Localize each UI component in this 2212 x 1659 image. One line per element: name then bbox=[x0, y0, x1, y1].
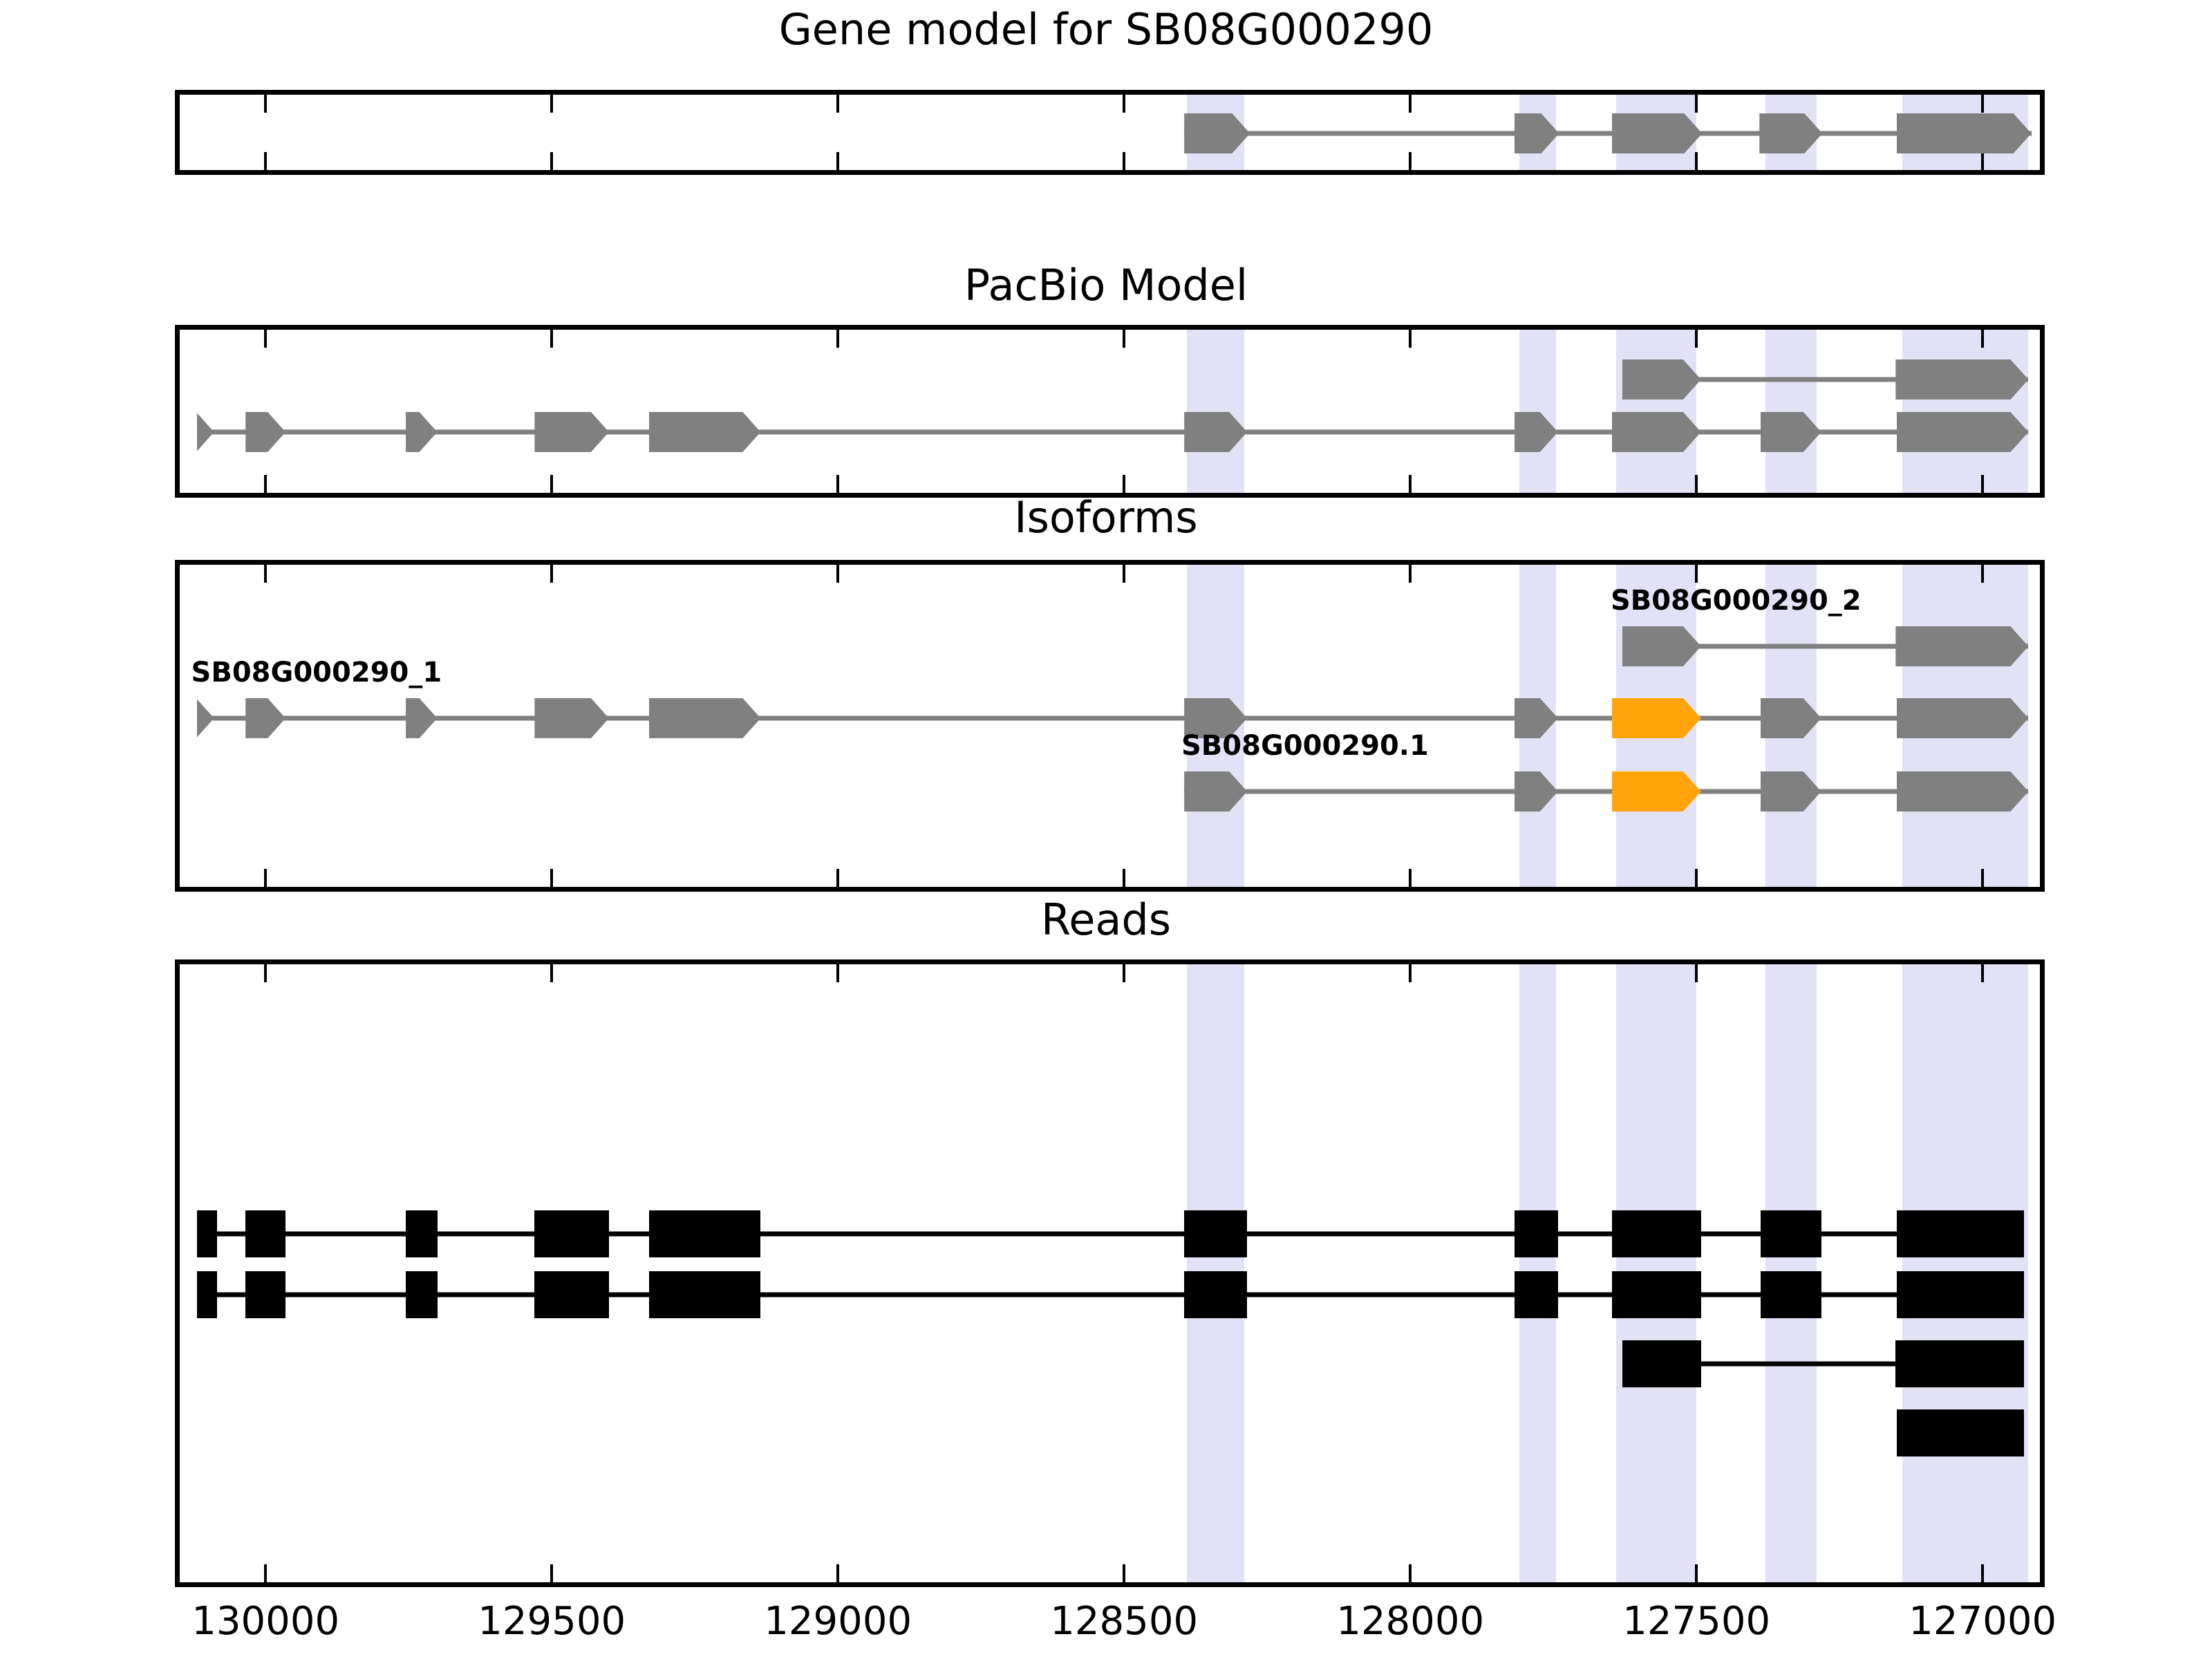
figure-title: Gene model for SB08G000290 bbox=[0, 8, 2212, 51]
axis-tick bbox=[550, 330, 553, 348]
isoform-label: SB08G000290_1 bbox=[191, 659, 442, 686]
exon-block bbox=[534, 412, 609, 452]
exon-block bbox=[245, 1210, 285, 1257]
axis-tick bbox=[264, 869, 267, 887]
exon-block bbox=[406, 1271, 438, 1318]
axis-tick bbox=[550, 95, 553, 113]
exon-block bbox=[534, 1271, 609, 1318]
exon-block bbox=[1895, 359, 2028, 400]
axis-tick bbox=[1981, 565, 1984, 583]
axis-tick bbox=[264, 475, 267, 493]
exon-block bbox=[1761, 1271, 1821, 1318]
exon-block bbox=[1515, 1271, 1558, 1318]
highlight-band bbox=[1616, 330, 1696, 493]
axis-tick bbox=[1409, 565, 1412, 583]
exon-block bbox=[1897, 1409, 2024, 1456]
highlight-band bbox=[1519, 330, 1557, 493]
exon-block bbox=[197, 412, 214, 452]
panel-reads bbox=[175, 959, 2045, 1587]
axis-tick bbox=[1123, 475, 1125, 493]
panel-title-isoforms: Isoforms bbox=[0, 496, 2212, 539]
exon-block bbox=[1897, 698, 2028, 738]
x-axis-tick-label: 129500 bbox=[478, 1602, 626, 1641]
axis-tick bbox=[1123, 869, 1125, 887]
exon-block bbox=[406, 698, 438, 738]
axis-tick bbox=[836, 152, 839, 170]
axis-tick bbox=[1409, 95, 1412, 113]
axis-tick bbox=[1123, 330, 1125, 348]
axis-tick bbox=[1695, 152, 1698, 170]
panel-reads-plot bbox=[180, 964, 2040, 1582]
figure-canvas: Gene model for SB08G000290 PacBio Model … bbox=[0, 0, 2212, 1659]
axis-tick bbox=[1695, 1564, 1698, 1582]
exon-block bbox=[406, 412, 438, 452]
axis-tick bbox=[836, 565, 839, 583]
exon-block bbox=[1515, 1210, 1558, 1257]
axis-tick bbox=[1981, 1564, 1984, 1582]
intron-line bbox=[197, 716, 2029, 721]
exon-block-highlighted bbox=[1612, 698, 1701, 738]
axis-tick bbox=[1409, 1564, 1412, 1582]
exon-block bbox=[649, 412, 760, 452]
panel-pacbio-plot bbox=[180, 330, 2040, 493]
axis-tick bbox=[1981, 869, 1984, 887]
axis-tick bbox=[1695, 95, 1698, 113]
x-axis-tick-label: 127500 bbox=[1622, 1602, 1770, 1641]
highlight-band bbox=[1902, 330, 2028, 493]
panel-gene-model-plot bbox=[180, 95, 2040, 170]
axis-tick bbox=[550, 152, 553, 170]
exon-block bbox=[1612, 113, 1703, 153]
exon-block bbox=[1184, 1210, 1247, 1257]
exon-block bbox=[649, 1271, 760, 1318]
axis-tick bbox=[1981, 330, 1984, 348]
isoform-label: SB08G000290_2 bbox=[1611, 587, 1862, 615]
exon-block bbox=[534, 1210, 609, 1257]
highlight-band bbox=[1187, 330, 1244, 493]
axis-tick bbox=[1695, 869, 1698, 887]
axis-tick bbox=[1981, 475, 1984, 493]
axis-tick bbox=[264, 95, 267, 113]
axis-tick bbox=[264, 964, 267, 982]
axis-tick bbox=[550, 869, 553, 887]
axis-tick bbox=[1981, 964, 1984, 982]
axis-tick bbox=[836, 330, 839, 348]
exon-block bbox=[1897, 1210, 2024, 1257]
exon-block bbox=[1895, 626, 2028, 666]
exon-block bbox=[197, 1210, 217, 1257]
axis-tick bbox=[836, 95, 839, 113]
axis-tick bbox=[264, 565, 267, 583]
panel-isoforms-plot: SB08G000290_2SB08G000290_1SB08G000290.1 bbox=[180, 565, 2040, 887]
exon-block bbox=[1612, 1271, 1701, 1318]
panel-gene-model bbox=[175, 90, 2045, 175]
axis-tick bbox=[1409, 330, 1412, 348]
axis-tick bbox=[1123, 152, 1125, 170]
isoform-label: SB08G000290.1 bbox=[1181, 732, 1429, 760]
exon-block bbox=[1761, 1210, 1821, 1257]
highlight-band bbox=[1765, 330, 1817, 493]
intron-line bbox=[197, 1232, 2024, 1237]
axis-tick bbox=[550, 964, 553, 982]
exon-block bbox=[1897, 1271, 2024, 1318]
axis-tick bbox=[1409, 964, 1412, 982]
axis-tick bbox=[1123, 95, 1125, 113]
axis-tick bbox=[550, 565, 553, 583]
axis-tick bbox=[1123, 964, 1125, 982]
axis-tick bbox=[1409, 869, 1412, 887]
axis-tick bbox=[1409, 475, 1412, 493]
exon-block bbox=[197, 698, 214, 738]
axis-tick bbox=[836, 964, 839, 982]
axis-tick bbox=[1695, 565, 1698, 583]
panel-isoforms: SB08G000290_2SB08G000290_1SB08G000290.1 bbox=[175, 560, 2045, 892]
x-axis-tick-label: 127000 bbox=[1909, 1602, 2056, 1641]
exon-block bbox=[1612, 1210, 1701, 1257]
exon-block bbox=[1897, 113, 2032, 153]
x-axis-tick-label: 129000 bbox=[764, 1602, 912, 1641]
intron-line bbox=[197, 430, 2029, 435]
exon-block bbox=[1897, 771, 2028, 812]
x-axis-tick-label: 128500 bbox=[1050, 1602, 1198, 1641]
x-axis-tick-label: 130000 bbox=[191, 1602, 339, 1641]
exon-block bbox=[649, 698, 760, 738]
axis-tick bbox=[836, 869, 839, 887]
x-axis-tick-label: 128000 bbox=[1336, 1602, 1484, 1641]
axis-tick bbox=[1123, 1564, 1125, 1582]
panel-pacbio-model bbox=[175, 325, 2045, 498]
axis-tick bbox=[264, 152, 267, 170]
axis-tick bbox=[1695, 330, 1698, 348]
axis-tick bbox=[550, 475, 553, 493]
exon-block bbox=[1622, 1340, 1701, 1387]
exon-block bbox=[197, 1271, 217, 1318]
axis-tick bbox=[1409, 152, 1412, 170]
exon-block bbox=[1184, 1271, 1247, 1318]
axis-tick bbox=[550, 1564, 553, 1582]
exon-block-highlighted bbox=[1612, 771, 1701, 812]
axis-tick bbox=[264, 1564, 267, 1582]
axis-tick bbox=[836, 475, 839, 493]
exon-block bbox=[245, 412, 285, 452]
axis-tick bbox=[836, 1564, 839, 1582]
axis-tick bbox=[264, 330, 267, 348]
exon-block bbox=[649, 1210, 760, 1257]
exon-block bbox=[245, 1271, 285, 1318]
axis-tick bbox=[1981, 152, 1984, 170]
exon-block bbox=[534, 698, 609, 738]
exon-block bbox=[245, 698, 285, 738]
axis-tick bbox=[1123, 565, 1125, 583]
axis-tick bbox=[1981, 95, 1984, 113]
exon-block bbox=[406, 1210, 438, 1257]
panel-title-pacbio: PacBio Model bbox=[0, 264, 2212, 307]
panel-title-reads: Reads bbox=[0, 899, 2212, 941]
exon-block bbox=[1612, 412, 1701, 452]
exon-block bbox=[1895, 1340, 2023, 1387]
exon-block bbox=[1897, 412, 2028, 452]
intron-line bbox=[197, 1293, 2024, 1297]
axis-tick bbox=[1695, 475, 1698, 493]
axis-tick bbox=[1695, 964, 1698, 982]
